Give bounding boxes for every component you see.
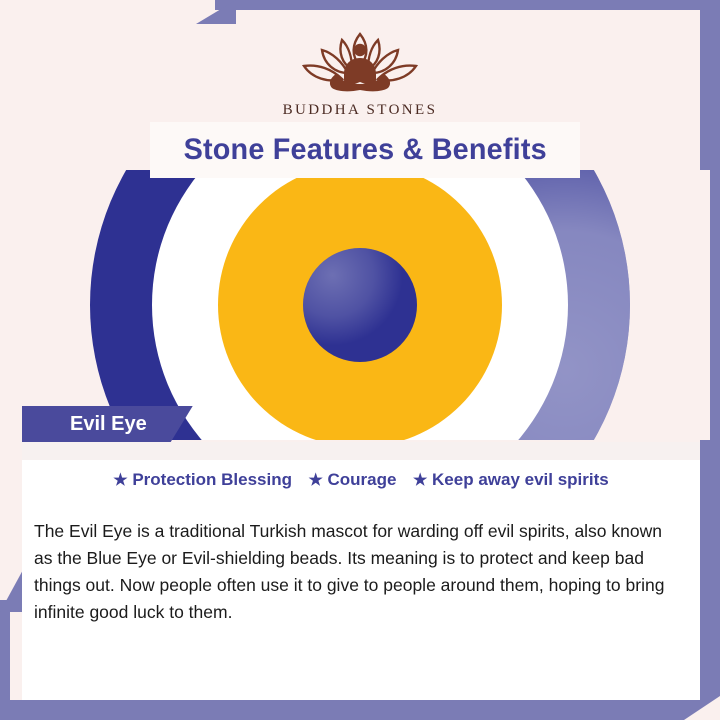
page-frame: BUDDHA STONES Stone Features & Benefits …	[0, 0, 720, 720]
evil-eye-illustration	[10, 170, 710, 440]
benefit-item-1: Protection Blessing	[132, 470, 292, 489]
brand-logo: BUDDHA STONES	[0, 22, 720, 119]
star-icon-3: ★	[413, 472, 427, 489]
content-panel: ★ Protection Blessing ★ Courage ★ Keep a…	[22, 442, 700, 700]
lotus-meditation-figure-icon	[280, 22, 440, 98]
brand-wordmark: BUDDHA STONES	[0, 102, 720, 119]
stone-name-label: Evil Eye	[70, 413, 147, 436]
title-banner: Stone Features & Benefits	[150, 122, 580, 178]
eye-pupil-highlight	[303, 248, 417, 362]
evil-eye-stage	[90, 170, 630, 440]
benefit-item-3: Keep away evil spirits	[432, 470, 609, 489]
description-paragraph: The Evil Eye is a traditional Turkish ma…	[34, 518, 684, 626]
stone-name-badge: Evil Eye	[22, 406, 193, 442]
panel-top-fade	[22, 442, 700, 460]
star-icon-1: ★	[113, 472, 127, 489]
benefits-list: ★ Protection Blessing ★ Courage ★ Keep a…	[22, 470, 700, 490]
star-icon-2: ★	[308, 472, 322, 489]
page-title: Stone Features & Benefits	[183, 133, 546, 167]
frame-notch-top	[0, 0, 215, 22]
benefit-item-2: Courage	[328, 470, 397, 489]
